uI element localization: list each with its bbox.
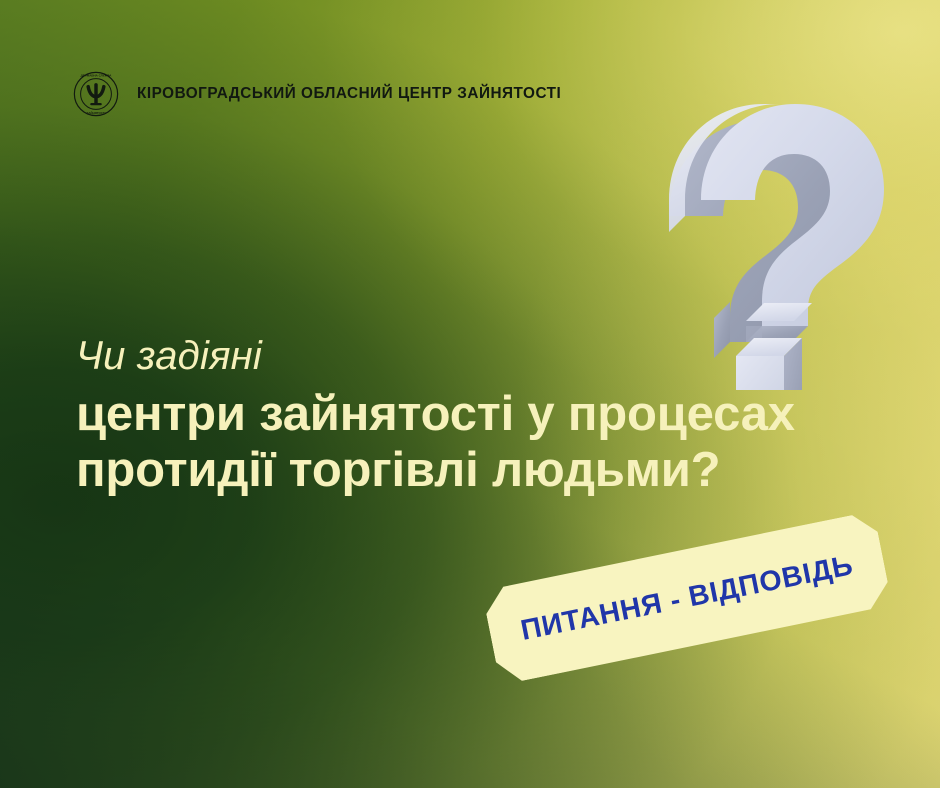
employment-service-emblem-icon: ДЕРЖАВНА СЛУЖБА ЗАЙНЯТОСТІ [73,71,119,117]
headline-line-2: протидії торгівлі людьми? [76,446,876,495]
category-badge-wrapper: ПИТАННЯ - ВІДПОВІДЬ [487,527,887,669]
svg-text:ДЕРЖАВНА СЛУЖБА: ДЕРЖАВНА СЛУЖБА [81,74,113,78]
headline-line-1: центри зайнятості у процесах [76,390,876,439]
poster-canvas: ДЕРЖАВНА СЛУЖБА ЗАЙНЯТОСТІ КІРОВОГРАДСЬК… [0,0,940,788]
organization-name: КІРОВОГРАДСЬКИЙ ОБЛАСНИЙ ЦЕНТР ЗАЙНЯТОСТ… [137,86,561,101]
category-badge-label: ПИТАННЯ - ВІДПОВІДЬ [518,551,855,645]
headline-block: Чи задіяні центри зайнятості у процесах … [76,336,876,502]
headline-kicker: Чи задіяні [76,336,876,376]
svg-text:ЗАЙНЯТОСТІ: ЗАЙНЯТОСТІ [87,111,106,115]
header-branding: ДЕРЖАВНА СЛУЖБА ЗАЙНЯТОСТІ КІРОВОГРАДСЬК… [73,71,561,117]
category-badge: ПИТАННЯ - ВІДПОВІДЬ [481,511,892,685]
